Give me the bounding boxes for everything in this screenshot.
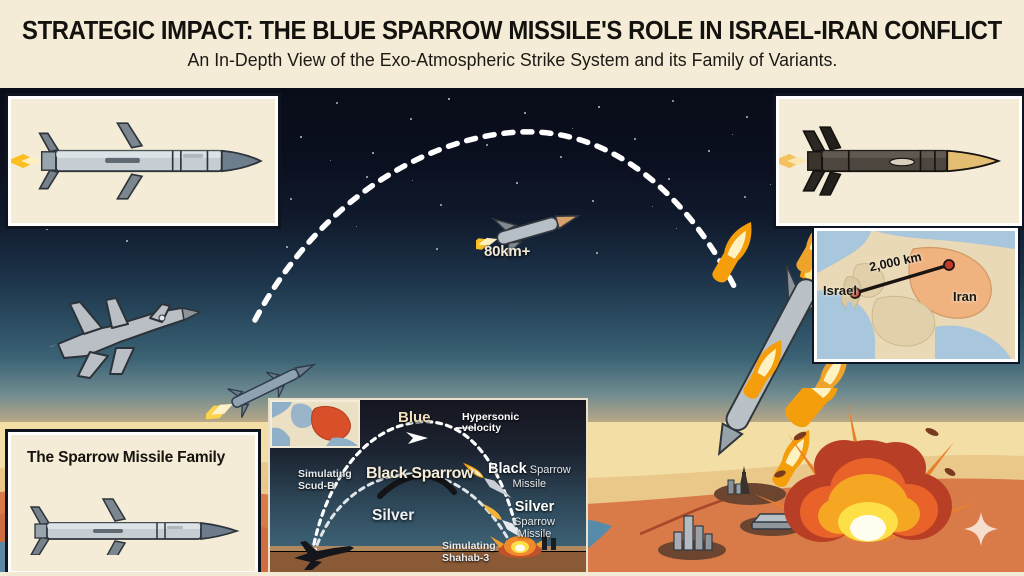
sparkle-icon bbox=[964, 512, 998, 546]
inset-label-hypersonic: Hypersonic velocity bbox=[462, 412, 519, 434]
header-band: STRATEGIC IMPACT: THE BLUE SPARROW MISSI… bbox=[0, 0, 1024, 88]
scud-line-2: Scud-B bbox=[298, 480, 352, 492]
fighter-jet bbox=[50, 278, 210, 388]
shahab-line-2: Shahab-3 bbox=[442, 552, 496, 564]
black-missile-line-2: Missile bbox=[488, 478, 571, 490]
hypersonic-line-2: velocity bbox=[462, 423, 519, 434]
black-sparrow-cutaway bbox=[779, 99, 1019, 223]
inset-map-graphic bbox=[272, 402, 358, 446]
inset-label-silver: Silver bbox=[372, 508, 414, 524]
shahab-line-1: Simulating bbox=[442, 540, 496, 552]
black-missile-bold: Black bbox=[488, 461, 527, 477]
inset-label-black-sparrow: Black Sparrow bbox=[366, 466, 473, 483]
inset-label-silver-sparrow-missile: Silver Sparrow Missile bbox=[514, 500, 555, 540]
silver-sparrow-cutaway bbox=[11, 99, 275, 223]
inset-label-simulating-shahab: Simulating Shahab-3 bbox=[442, 540, 496, 564]
ground-explosion bbox=[744, 388, 992, 572]
panel-silver-sparrow bbox=[8, 96, 278, 226]
scud-line-1: Simulating bbox=[298, 468, 352, 480]
map-label-israel: Israel bbox=[823, 283, 857, 298]
page-title: STRATEGIC IMPACT: THE BLUE SPARROW MISSI… bbox=[22, 19, 1002, 45]
inset-label-black-sparrow-missile: Black Sparrow Missile bbox=[488, 462, 571, 490]
inset-region-map bbox=[270, 400, 360, 448]
footer-band bbox=[0, 572, 1024, 576]
trajectory-comparison-inset: Blue Hypersonic velocity Black Sparrow S… bbox=[268, 398, 588, 574]
inset-label-blue: Blue bbox=[398, 410, 431, 426]
page-subtitle: An In-Depth View of the Exo-Atmospheric … bbox=[187, 51, 837, 70]
silver-missile-line-3: Missile bbox=[514, 528, 555, 540]
family-missile-diagram bbox=[11, 485, 249, 555]
panel-black-sparrow bbox=[776, 96, 1022, 226]
inset-label-simulating-scud: Simulating Scud-B bbox=[298, 468, 352, 492]
map-label-iran: Iran bbox=[953, 289, 977, 304]
silver-missile-line-2: Sparrow bbox=[514, 516, 555, 528]
map-inset: Israel Iran 2,000 km bbox=[814, 228, 1018, 362]
family-panel-title: The Sparrow Missile Family bbox=[27, 449, 225, 467]
silver-missile-bold: Silver bbox=[514, 500, 555, 516]
infographic-root: STRATEGIC IMPACT: THE BLUE SPARROW MISSI… bbox=[0, 0, 1024, 576]
black-missile-rest: Sparrow bbox=[530, 464, 571, 476]
altitude-label: 80km+ bbox=[484, 243, 530, 260]
panel-sparrow-family: The Sparrow Missile Family bbox=[8, 432, 258, 574]
